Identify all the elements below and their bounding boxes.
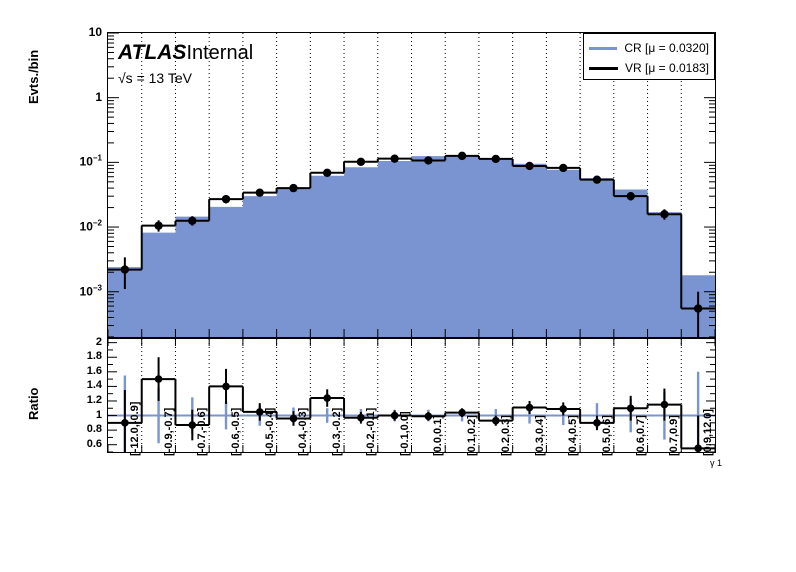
x-tick-label: [-0.6,-0.5] xyxy=(230,408,242,456)
ratio-tick-label: 0.6 xyxy=(58,438,102,450)
ratio-data-point xyxy=(121,419,129,427)
ratio-data-point xyxy=(189,421,197,429)
vr-data-point xyxy=(121,265,129,273)
x-tick-label: [0.2,0.3] xyxy=(500,415,512,456)
x-tick-label: [0.3,0.4] xyxy=(534,415,546,456)
legend-swatch-cr xyxy=(589,47,617,50)
vr-data-point xyxy=(357,158,365,166)
atlas-status-label: Internal xyxy=(186,42,253,64)
x-tick-label: [0.9,12.0] xyxy=(702,409,714,456)
vr-data-point xyxy=(424,156,432,164)
x-tick-label: [-0.9,-0.7] xyxy=(163,408,175,456)
ratio-tick-label: 2 xyxy=(58,336,102,348)
x-tick-label: [0.7,0.9] xyxy=(668,415,680,456)
ratio-data-point xyxy=(627,404,635,412)
ratio-data-point xyxy=(222,383,230,391)
vr-data-point xyxy=(323,169,331,177)
vr-data-point xyxy=(289,184,297,192)
y-axis-title-ratio: Ratio xyxy=(26,388,41,421)
ratio-data-point xyxy=(492,417,500,425)
x-tick-label: [-0.4,-0.3] xyxy=(297,408,309,456)
centre-of-mass-energy-label: √s = 13 TeV xyxy=(118,70,253,86)
ratio-tick-label: 1.4 xyxy=(58,379,102,391)
x-tick-label: [0.5,0.6] xyxy=(601,415,613,456)
ratio-data-point xyxy=(357,414,365,422)
x-tick-label: [0.6,0.7] xyxy=(635,415,647,456)
x-tick-label: [0.0,0.1] xyxy=(432,415,444,456)
ratio-data-point xyxy=(256,408,264,416)
x-tick-label: [0.1,0.2] xyxy=(466,415,478,456)
legend-label-cr: CR [μ = 0.0320] xyxy=(624,41,709,55)
x-tick-label: [-0.1,0.0] xyxy=(399,411,411,456)
vr-data-point xyxy=(492,155,500,163)
x-tick-label: [-0.7,-0.6] xyxy=(196,408,208,456)
ratio-data-point xyxy=(458,409,466,417)
vr-data-point xyxy=(559,164,567,172)
legend-entry-vr: VR [μ = 0.0183] xyxy=(589,58,709,78)
vr-data-point xyxy=(694,304,702,312)
cr-filled-histogram xyxy=(108,155,715,337)
vr-data-point xyxy=(660,210,668,218)
atlas-wordmark: ATLAS xyxy=(118,41,186,64)
ratio-tick-label: 1.8 xyxy=(58,350,102,362)
y-tick-label: 1 xyxy=(58,90,102,104)
legend-swatch-vr xyxy=(589,67,618,70)
vr-data-point xyxy=(593,175,601,183)
plot-canvas: Evts./bin Ratio γ 1 10110−110−210−3 21.8… xyxy=(0,0,796,572)
ratio-tick-label: 1.6 xyxy=(58,365,102,377)
y-tick-label: 10−1 xyxy=(58,154,102,169)
legend-box: CR [μ = 0.0320] VR [μ = 0.0183] xyxy=(583,33,715,80)
y-tick-label: 10 xyxy=(58,25,102,39)
vr-data-point xyxy=(188,217,196,225)
x-tick-label: [-12.0,-0.9] xyxy=(129,402,141,456)
vr-data-point xyxy=(626,192,634,200)
ratio-tick-label: 0.8 xyxy=(58,423,102,435)
atlas-annotation: ATLASInternal √s = 13 TeV xyxy=(118,42,253,86)
vr-data-point xyxy=(390,154,398,162)
ratio-data-point xyxy=(593,419,601,427)
y-axis-title-main: Evts./bin xyxy=(26,50,41,104)
ratio-data-point xyxy=(155,375,163,383)
x-tick-label: [-0.5,-0.4] xyxy=(264,408,276,456)
vr-data-point xyxy=(222,195,230,203)
y-tick-label: 10−2 xyxy=(58,219,102,234)
legend-label-vr: VR [μ = 0.0183] xyxy=(625,61,709,75)
legend-entry-cr: CR [μ = 0.0320] xyxy=(589,38,709,58)
ratio-data-point xyxy=(694,445,702,452)
ratio-data-point xyxy=(323,394,331,402)
x-tick-label: [-0.2,-0.1] xyxy=(365,408,377,456)
x-tick-label: [0.4,0.5] xyxy=(567,415,579,456)
vr-data-point xyxy=(256,188,264,196)
ratio-data-point xyxy=(559,405,567,413)
x-tick-label: [-0.3,-0.2] xyxy=(331,408,343,456)
vr-data-point xyxy=(154,221,162,229)
ratio-data-point xyxy=(661,401,669,409)
vr-data-point xyxy=(525,162,533,170)
ratio-tick-label: 1 xyxy=(58,409,102,421)
vr-data-point xyxy=(458,152,466,160)
ratio-data-point xyxy=(391,412,399,420)
ratio-tick-label: 1.2 xyxy=(58,394,102,406)
ratio-data-point xyxy=(526,404,534,412)
x-axis-title: γ 1 xyxy=(710,458,722,468)
y-tick-label: 10−3 xyxy=(58,283,102,298)
atlas-label-line: ATLASInternal xyxy=(118,42,253,63)
